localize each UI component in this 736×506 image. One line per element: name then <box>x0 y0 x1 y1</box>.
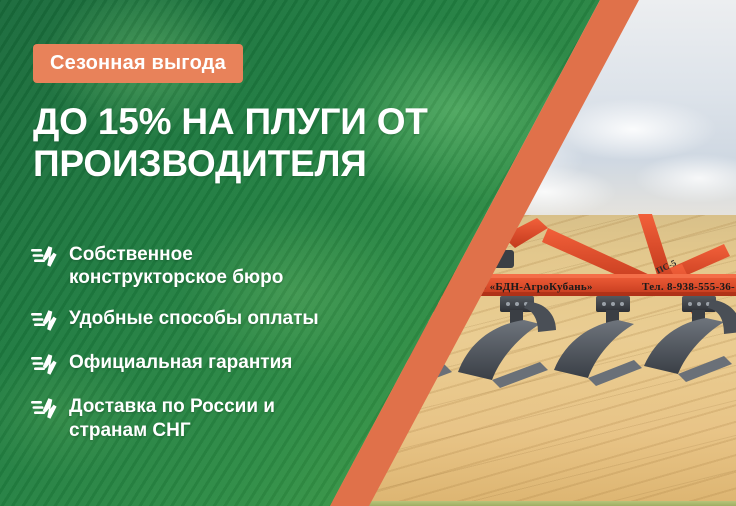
seasonal-offer-badge: Сезонная выгода <box>33 44 243 83</box>
sprout-icon <box>31 353 57 377</box>
sprout-icon <box>31 309 57 333</box>
feature-label: Удобные способы оплаты <box>69 307 319 330</box>
promo-banner: ПС-5 ООО «БДН-АгроКубань» <box>0 0 736 506</box>
plow-bottom-3 <box>554 296 642 386</box>
sprout-icon <box>31 245 57 269</box>
banner-content: Сезонная выгода ДО 15% НА ПЛУГИ ОТ ПРОИЗ… <box>0 0 480 506</box>
feature-item: Удобные способы оплаты <box>31 307 431 333</box>
feature-label: Собственное конструкторское бюро <box>69 243 283 289</box>
feature-item: Официальная гарантия <box>31 351 431 377</box>
feature-list: Собственное конструкторское бюро Удобные… <box>31 243 431 442</box>
sprout-icon <box>31 397 57 421</box>
feature-item: Собственное конструкторское бюро <box>31 243 431 289</box>
plow-bottom-4 <box>644 296 736 382</box>
feature-label: Официальная гарантия <box>69 351 292 374</box>
feature-label: Доставка по России и странам СНГ <box>69 395 275 441</box>
headline: ДО 15% НА ПЛУГИ ОТ ПРОИЗВОДИТЕЛЯ <box>33 101 473 185</box>
plow-beam-phone-text: Тел. 8-938-555-36- <box>642 281 735 293</box>
feature-item: Доставка по России и странам СНГ <box>31 395 431 441</box>
